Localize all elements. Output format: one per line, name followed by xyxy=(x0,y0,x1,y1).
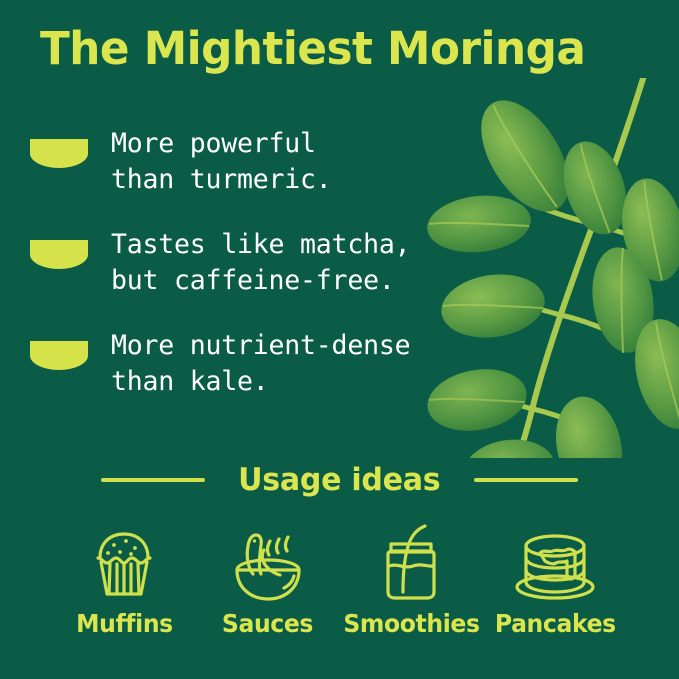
list-item: Tastes like matcha, but caffeine-free. xyxy=(30,227,500,299)
benefit-text: Tastes like matcha, but caffeine-free. xyxy=(111,227,410,299)
pancake-stack-icon xyxy=(512,522,598,602)
usage-item-muffins: Muffins xyxy=(58,522,190,638)
usage-ideas-row: Muffins Sauc xyxy=(58,522,621,638)
page-title: The Mightiest Moringa xyxy=(40,22,585,75)
smoothie-jar-icon xyxy=(373,522,449,602)
half-circle-bullet-icon xyxy=(30,240,88,269)
usage-ideas-heading: Usage ideas xyxy=(0,462,679,498)
divider-rule-left xyxy=(101,478,205,482)
benefit-text: More powerful than turmeric. xyxy=(111,126,332,198)
half-circle-bullet-icon xyxy=(30,341,88,370)
muffin-icon xyxy=(86,522,162,602)
benefits-list: More powerful than turmeric. Tastes like… xyxy=(30,126,500,429)
usage-label: Smoothies xyxy=(343,609,479,638)
usage-item-sauces: Sauces xyxy=(202,522,334,638)
usage-ideas-title: Usage ideas xyxy=(238,462,440,498)
usage-label: Pancakes xyxy=(495,609,616,638)
usage-label: Muffins xyxy=(76,609,173,638)
list-item: More powerful than turmeric. xyxy=(30,126,500,198)
sauce-bowl-icon xyxy=(228,522,308,602)
poster: The Mightiest Moringa More powerful than… xyxy=(0,0,679,679)
half-circle-bullet-icon xyxy=(30,139,88,168)
usage-label: Sauces xyxy=(222,609,313,638)
list-item: More nutrient-dense than kale. xyxy=(30,328,500,400)
usage-item-pancakes: Pancakes xyxy=(489,522,621,638)
usage-item-smoothies: Smoothies xyxy=(345,522,477,638)
divider-rule-right xyxy=(474,478,578,482)
benefit-text: More nutrient-dense than kale. xyxy=(111,328,410,400)
